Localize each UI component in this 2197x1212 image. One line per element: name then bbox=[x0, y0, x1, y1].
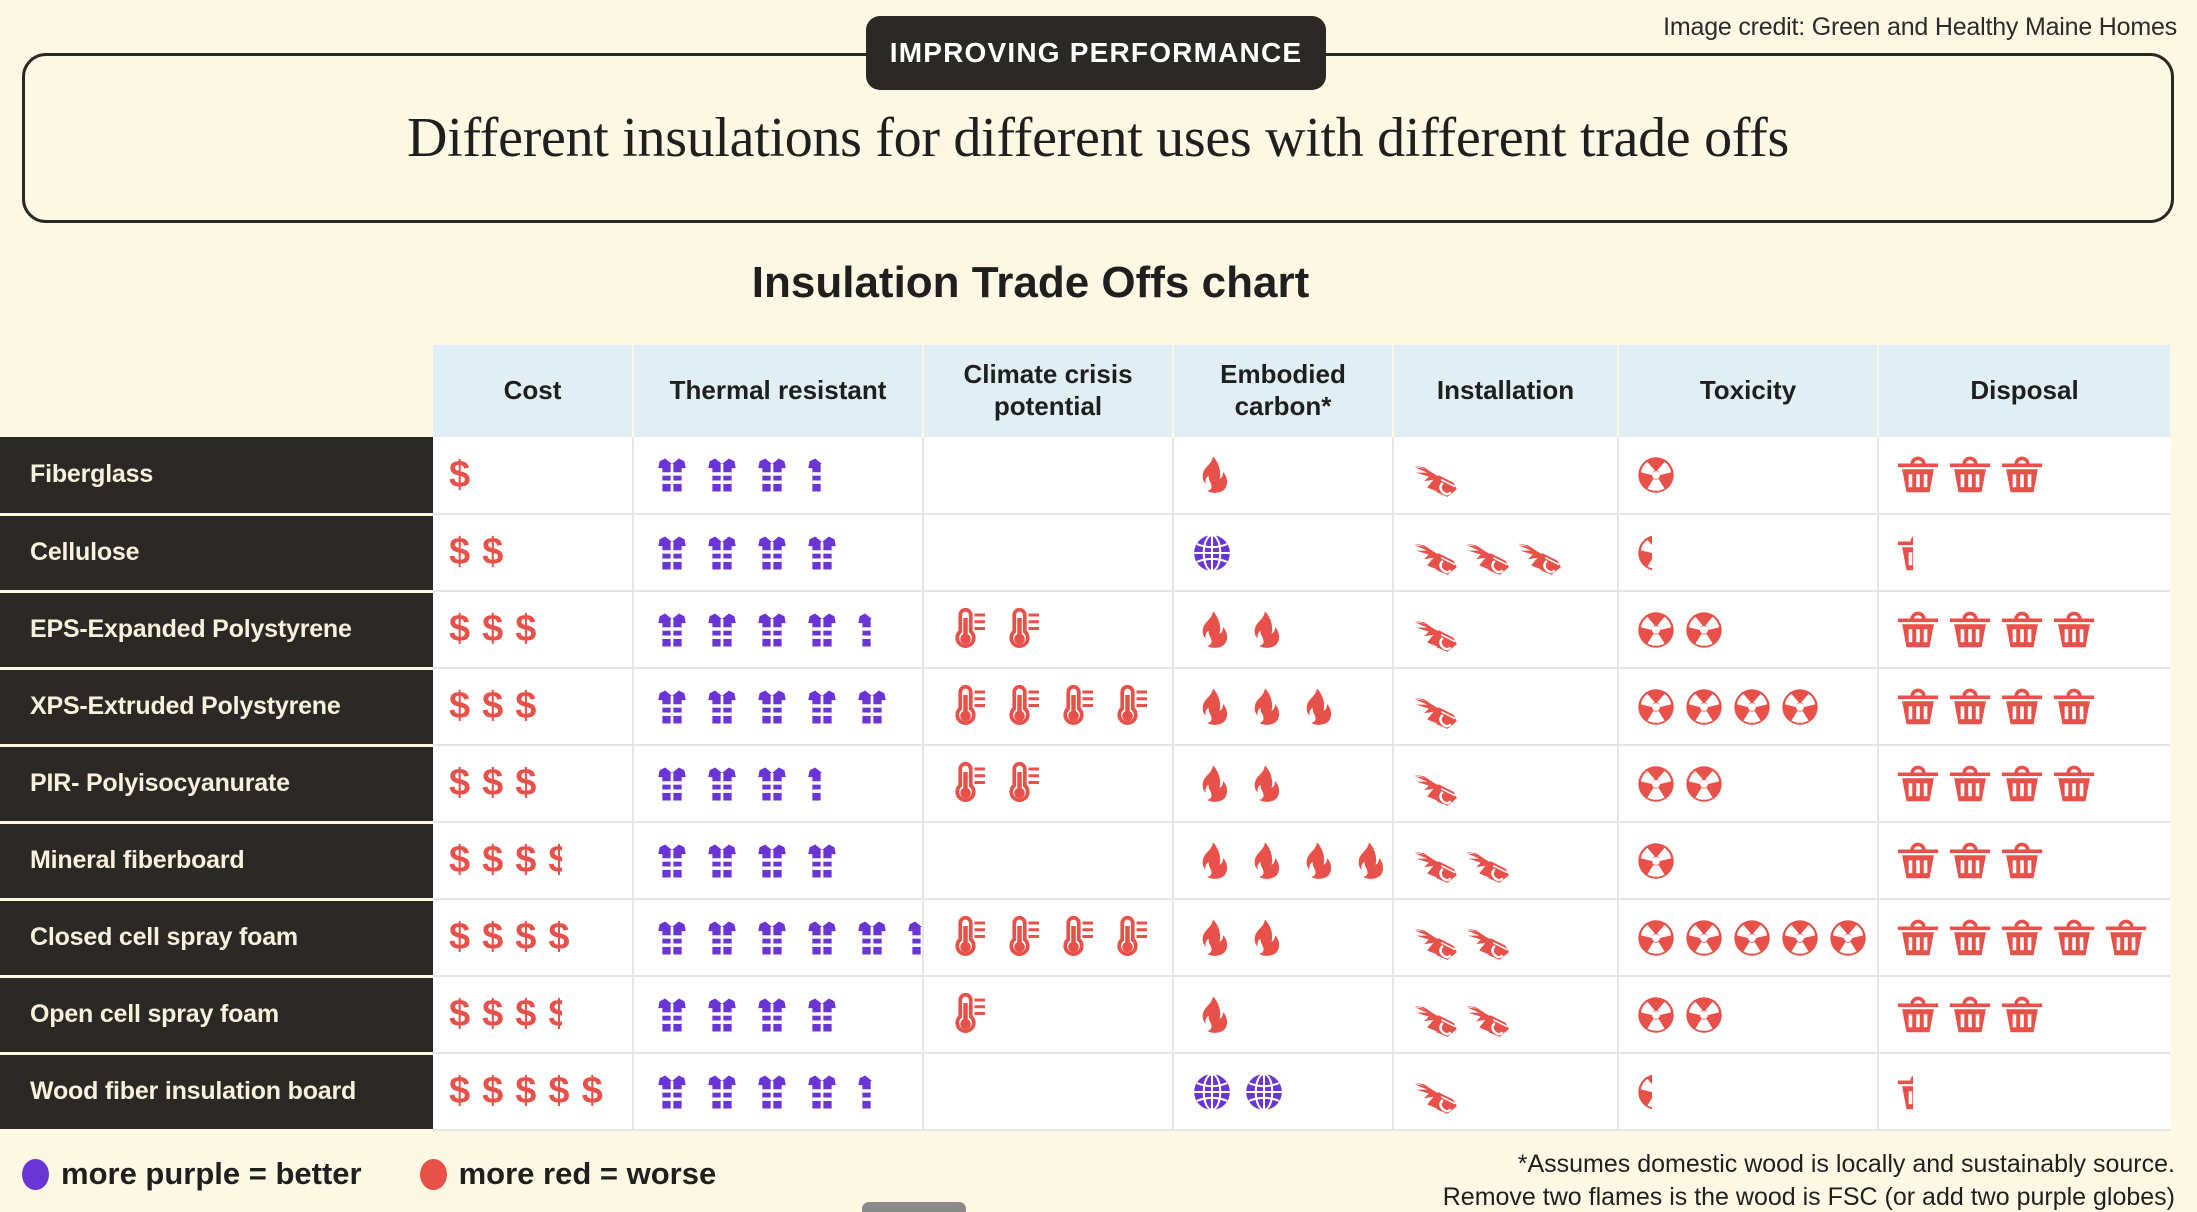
vest-icon bbox=[900, 916, 922, 960]
radiation-icon bbox=[1635, 994, 1677, 1036]
embodied-carbon-value bbox=[1190, 1070, 1392, 1114]
embodied-carbon-cell bbox=[1173, 437, 1393, 514]
table-row: Wood fiber insulation board$$$$$ bbox=[0, 1053, 2170, 1130]
page-title: Different insulations for different uses… bbox=[407, 106, 1789, 170]
thermometer-icon bbox=[994, 606, 1042, 654]
glove-icon bbox=[1410, 682, 1460, 732]
trash-icon bbox=[1999, 761, 2045, 807]
toxicity-cell bbox=[1618, 822, 1878, 899]
cost-cell: $$$ bbox=[433, 668, 633, 745]
vest-icon bbox=[800, 916, 844, 960]
legend: more purple = better more red = worse bbox=[22, 1156, 716, 1192]
glove-icon bbox=[1410, 990, 1460, 1040]
radiation-icon bbox=[1683, 686, 1725, 728]
vest-icon-partial bbox=[800, 453, 822, 497]
vest-icon bbox=[750, 762, 794, 806]
legend-label-red: more red = worse bbox=[459, 1156, 717, 1192]
radiation-icon bbox=[1731, 917, 1773, 959]
thermometer-icon bbox=[940, 914, 988, 962]
installation-cell bbox=[1393, 668, 1618, 745]
disposal-value bbox=[1895, 607, 2170, 653]
cost-cell: $$ bbox=[433, 514, 633, 591]
trash-icon bbox=[1947, 992, 1993, 1038]
dollar-sign-icon: $ bbox=[449, 608, 470, 651]
trash-icon bbox=[1895, 684, 1941, 730]
thermometer-icon bbox=[1048, 914, 1096, 962]
cost-cell: $ bbox=[433, 437, 633, 514]
vest-icon bbox=[800, 1070, 844, 1114]
installation-value bbox=[1410, 1067, 1617, 1117]
section-badge-label: IMPROVING PERFORMANCE bbox=[890, 37, 1303, 69]
dollar-sign-icon: $ bbox=[515, 685, 536, 728]
glove-icon bbox=[1462, 990, 1512, 1040]
radiation-icon bbox=[1635, 454, 1677, 496]
vest-icon bbox=[750, 685, 794, 729]
legend-item-purple: more purple = better bbox=[22, 1156, 362, 1192]
thermal-resistant-value bbox=[650, 531, 922, 575]
chart-title-text: Insulation Trade Offs chart bbox=[752, 258, 1309, 308]
trash-icon bbox=[1895, 607, 1941, 653]
toxicity-cell bbox=[1618, 514, 1878, 591]
thermometer-icon bbox=[1048, 683, 1096, 731]
trash-icon bbox=[1999, 452, 2045, 498]
thermal-resistant-cell bbox=[633, 976, 923, 1053]
table-row: Fiberglass$ bbox=[0, 437, 2170, 514]
trash-icon bbox=[2051, 684, 2097, 730]
trash-icon bbox=[1895, 452, 1941, 498]
radiation-icon bbox=[1635, 686, 1677, 728]
cost-value: $ bbox=[449, 454, 632, 497]
cost-cell: $$$ bbox=[433, 745, 633, 822]
flame-icon bbox=[1190, 992, 1236, 1038]
trash-icon-partial bbox=[1895, 1069, 1913, 1115]
column-header-climate-crisis-potential: Climate crisis potential bbox=[923, 345, 1173, 437]
toxicity-cell bbox=[1618, 591, 1878, 668]
radiation-icon bbox=[1779, 917, 1821, 959]
installation-cell bbox=[1393, 437, 1618, 514]
climate-crisis-potential-cell bbox=[923, 745, 1173, 822]
trash-icon bbox=[1947, 761, 1993, 807]
dollar-sign-icon: $ bbox=[449, 531, 470, 574]
scroll-indicator[interactable] bbox=[862, 1202, 966, 1212]
radiation-icon bbox=[1683, 994, 1725, 1036]
cost-value: $$$ bbox=[449, 685, 632, 728]
glove-icon bbox=[1410, 528, 1460, 578]
thermal-resistant-value bbox=[650, 685, 922, 729]
vest-icon bbox=[650, 608, 694, 652]
disposal-cell bbox=[1878, 899, 2170, 976]
table-row: Open cell spray foam$$$$ bbox=[0, 976, 2170, 1053]
disposal-cell bbox=[1878, 591, 2170, 668]
embodied-carbon-cell bbox=[1173, 591, 1393, 668]
table-row: EPS-Expanded Polystyrene$$$ bbox=[0, 591, 2170, 668]
column-header-installation: Installation bbox=[1393, 345, 1618, 437]
vest-icon-partial bbox=[800, 762, 822, 806]
table-row: XPS-Extruded Polystyrene$$$ bbox=[0, 668, 2170, 745]
table-body: Fiberglass$Cellulose$$EPS-Expanded Polys… bbox=[0, 437, 2170, 1130]
vest-icon bbox=[750, 916, 794, 960]
dollar-sign-icon-partial: $ bbox=[548, 839, 562, 882]
column-header-disposal: Disposal bbox=[1878, 345, 2170, 437]
vest-icon bbox=[700, 1070, 744, 1114]
column-header-toxicity: Toxicity bbox=[1618, 345, 1878, 437]
cost-cell: $$$$ bbox=[433, 899, 633, 976]
vest-icon bbox=[800, 608, 844, 652]
table-row: Cellulose$$ bbox=[0, 514, 2170, 591]
chart-title: Insulation Trade Offs chart bbox=[0, 258, 2197, 308]
flame-icon bbox=[1190, 838, 1236, 884]
vest-icon bbox=[650, 531, 694, 575]
climate-crisis-potential-cell bbox=[923, 668, 1173, 745]
climate-crisis-potential-cell bbox=[923, 899, 1173, 976]
disposal-cell bbox=[1878, 514, 2170, 591]
dollar-sign-icon: $ bbox=[482, 531, 503, 574]
radiation-icon bbox=[1731, 686, 1773, 728]
embodied-carbon-value bbox=[1190, 531, 1392, 575]
vest-icon bbox=[700, 685, 744, 729]
thermal-resistant-value bbox=[650, 993, 922, 1037]
disposal-value bbox=[1895, 452, 2170, 498]
embodied-carbon-value bbox=[1190, 915, 1392, 961]
thermal-resistant-value bbox=[650, 839, 922, 883]
dollar-sign-icon: $ bbox=[482, 1070, 503, 1113]
purple-dot-icon bbox=[22, 1159, 49, 1190]
disposal-cell bbox=[1878, 745, 2170, 822]
row-label-closed-cell-spray-foam: Closed cell spray foam bbox=[0, 899, 433, 976]
dollar-sign-icon: $ bbox=[482, 839, 503, 882]
trash-icon bbox=[1895, 838, 1941, 884]
vest-icon bbox=[800, 993, 844, 1037]
thermometer-icon bbox=[940, 991, 988, 1039]
disposal-value bbox=[1895, 915, 2170, 961]
vest-icon bbox=[650, 993, 694, 1037]
installation-cell bbox=[1393, 745, 1618, 822]
trash-icon-partial bbox=[1895, 530, 1913, 576]
radiation-icon bbox=[1827, 917, 1869, 959]
cost-value: $$$ bbox=[449, 608, 632, 651]
dollar-sign-icon: $ bbox=[515, 916, 536, 959]
installation-value bbox=[1410, 605, 1617, 655]
disposal-cell bbox=[1878, 822, 2170, 899]
thermal-resistant-cell bbox=[633, 745, 923, 822]
glove-icon bbox=[1410, 605, 1460, 655]
toxicity-value bbox=[1635, 686, 1877, 728]
vest-icon bbox=[750, 839, 794, 883]
toxicity-cell bbox=[1618, 745, 1878, 822]
flame-icon bbox=[1190, 452, 1236, 498]
cost-cell: $$$$ bbox=[433, 976, 633, 1053]
radiation-icon bbox=[1683, 917, 1725, 959]
trash-icon bbox=[1999, 684, 2045, 730]
globe-icon bbox=[1190, 531, 1234, 575]
vest-icon bbox=[700, 839, 744, 883]
embodied-carbon-value bbox=[1190, 761, 1392, 807]
installation-cell bbox=[1393, 899, 1618, 976]
embodied-carbon-cell bbox=[1173, 668, 1393, 745]
flame-icon bbox=[1242, 684, 1288, 730]
trash-icon bbox=[1895, 992, 1941, 1038]
vest-icon bbox=[800, 685, 844, 729]
embodied-carbon-cell bbox=[1173, 976, 1393, 1053]
footnote: *Assumes domestic wood is locally and su… bbox=[1443, 1148, 2175, 1212]
cost-value: $$ bbox=[449, 531, 632, 574]
toxicity-value bbox=[1635, 763, 1877, 805]
dollar-sign-icon: $ bbox=[449, 762, 470, 805]
installation-value bbox=[1410, 682, 1617, 732]
dollar-sign-icon: $ bbox=[515, 839, 536, 882]
disposal-cell bbox=[1878, 976, 2170, 1053]
dollar-sign-icon: $ bbox=[482, 762, 503, 805]
trash-icon bbox=[2051, 607, 2097, 653]
vest-icon bbox=[850, 685, 894, 729]
row-label-fiberglass: Fiberglass bbox=[0, 437, 433, 514]
flame-icon bbox=[1242, 915, 1288, 961]
dollar-sign-icon: $ bbox=[449, 993, 470, 1036]
dollar-sign-icon: $ bbox=[515, 1070, 536, 1113]
trash-icon bbox=[1947, 915, 1993, 961]
vest-icon bbox=[700, 916, 744, 960]
thermal-resistant-value bbox=[650, 1070, 922, 1114]
trash-icon bbox=[1895, 915, 1941, 961]
flame-icon bbox=[1190, 684, 1236, 730]
dollar-sign-icon-partial: $ bbox=[548, 993, 562, 1036]
vest-icon bbox=[650, 453, 694, 497]
toxicity-value bbox=[1635, 609, 1877, 651]
trash-icon bbox=[1999, 915, 2045, 961]
dollar-sign-icon: $ bbox=[482, 685, 503, 728]
cost-value: $$$ bbox=[449, 762, 632, 805]
thermometer-icon bbox=[940, 683, 988, 731]
cost-value: $$$$ bbox=[449, 839, 632, 882]
flame-icon bbox=[1242, 607, 1288, 653]
row-label-pir-polyisocyanurate: PIR- Polyisocyanurate bbox=[0, 745, 433, 822]
installation-value bbox=[1410, 528, 1617, 578]
embodied-carbon-cell bbox=[1173, 822, 1393, 899]
flame-icon bbox=[1190, 761, 1236, 807]
table-header-row: Cost Thermal resistant Climate crisis po… bbox=[0, 345, 2170, 437]
glove-icon bbox=[1462, 528, 1512, 578]
climate-crisis-value bbox=[940, 683, 1172, 731]
row-label-open-cell-spray-foam: Open cell spray foam bbox=[0, 976, 433, 1053]
embodied-carbon-cell bbox=[1173, 514, 1393, 591]
thermometer-icon bbox=[994, 760, 1042, 808]
radiation-icon-partial bbox=[1635, 532, 1652, 574]
disposal-value bbox=[1895, 530, 2170, 576]
radiation-icon bbox=[1635, 763, 1677, 805]
cost-value: $$$$ bbox=[449, 993, 632, 1036]
toxicity-value bbox=[1635, 454, 1877, 496]
radiation-icon bbox=[1779, 686, 1821, 728]
cost-cell: $$$ bbox=[433, 591, 633, 668]
installation-cell bbox=[1393, 514, 1618, 591]
cost-cell: $$$$$ bbox=[433, 1053, 633, 1130]
disposal-value bbox=[1895, 1069, 2170, 1115]
thermal-resistant-cell bbox=[633, 514, 923, 591]
disposal-value bbox=[1895, 992, 2170, 1038]
dollar-sign-icon: $ bbox=[515, 762, 536, 805]
embodied-carbon-value bbox=[1190, 992, 1392, 1038]
installation-value bbox=[1410, 836, 1617, 886]
glove-icon bbox=[1410, 450, 1460, 500]
legend-item-red: more red = worse bbox=[420, 1156, 717, 1192]
vest-icon bbox=[650, 1070, 694, 1114]
glove-icon bbox=[1462, 836, 1512, 886]
image-credit: Image credit: Green and Healthy Maine Ho… bbox=[1663, 13, 2177, 42]
trash-icon bbox=[1999, 607, 2045, 653]
trash-icon bbox=[1947, 838, 1993, 884]
embodied-carbon-cell bbox=[1173, 1053, 1393, 1130]
cost-cell: $$$$ bbox=[433, 822, 633, 899]
dollar-sign-icon: $ bbox=[449, 839, 470, 882]
installation-cell bbox=[1393, 591, 1618, 668]
dollar-sign-icon: $ bbox=[449, 1070, 470, 1113]
vest-icon bbox=[650, 839, 694, 883]
row-label-eps-expanded-polystyrene: EPS-Expanded Polystyrene bbox=[0, 591, 433, 668]
cost-value: $$$$ bbox=[449, 916, 632, 959]
vest-icon bbox=[750, 453, 794, 497]
dollar-sign-icon: $ bbox=[482, 993, 503, 1036]
globe-icon bbox=[1190, 1070, 1234, 1114]
footnote-line-2: Remove two flames is the wood is FSC (or… bbox=[1443, 1181, 2175, 1212]
flame-icon bbox=[1346, 838, 1392, 884]
vest-icon bbox=[700, 608, 744, 652]
trash-icon bbox=[1895, 761, 1941, 807]
toxicity-value bbox=[1635, 917, 1877, 959]
disposal-cell bbox=[1878, 668, 2170, 745]
disposal-cell bbox=[1878, 437, 2170, 514]
flame-icon bbox=[1190, 915, 1236, 961]
toxicity-cell bbox=[1618, 1053, 1878, 1130]
climate-crisis-potential-cell bbox=[923, 514, 1173, 591]
glove-icon bbox=[1410, 759, 1460, 809]
globe-icon bbox=[1242, 1070, 1286, 1114]
radiation-icon bbox=[1635, 609, 1677, 651]
climate-crisis-potential-cell bbox=[923, 591, 1173, 668]
climate-crisis-potential-cell bbox=[923, 1053, 1173, 1130]
vest-icon bbox=[750, 608, 794, 652]
installation-value bbox=[1410, 913, 1617, 963]
thermal-resistant-value bbox=[650, 608, 922, 652]
vest-icon-partial bbox=[850, 608, 872, 652]
embodied-carbon-value bbox=[1190, 684, 1392, 730]
thermal-resistant-cell bbox=[633, 1053, 923, 1130]
radiation-icon bbox=[1683, 763, 1725, 805]
thermal-resistant-cell bbox=[633, 591, 923, 668]
vest-icon bbox=[800, 531, 844, 575]
vest-icon bbox=[850, 916, 894, 960]
trash-icon bbox=[1947, 684, 1993, 730]
thermal-resistant-cell bbox=[633, 668, 923, 745]
row-label-xps-extruded-polystyrene: XPS-Extruded Polystyrene bbox=[0, 668, 433, 745]
column-header-thermal-resistant: Thermal resistant bbox=[633, 345, 923, 437]
installation-cell bbox=[1393, 976, 1618, 1053]
dollar-sign-icon: $ bbox=[482, 916, 503, 959]
thermometer-icon bbox=[994, 683, 1042, 731]
flame-icon bbox=[1294, 838, 1340, 884]
dollar-sign-icon: $ bbox=[449, 685, 470, 728]
vest-icon bbox=[750, 993, 794, 1037]
column-header-cost: Cost bbox=[433, 345, 633, 437]
thermal-resistant-cell bbox=[633, 822, 923, 899]
dollar-sign-icon: $ bbox=[548, 916, 569, 959]
thermal-resistant-cell bbox=[633, 899, 923, 976]
installation-value bbox=[1410, 990, 1617, 1040]
legend-label-purple: more purple = better bbox=[61, 1156, 362, 1192]
vest-icon bbox=[650, 685, 694, 729]
toxicity-value bbox=[1635, 532, 1877, 574]
glove-icon bbox=[1410, 913, 1460, 963]
climate-crisis-value bbox=[940, 991, 1172, 1039]
trash-icon bbox=[1947, 452, 1993, 498]
vest-icon bbox=[700, 762, 744, 806]
embodied-carbon-value bbox=[1190, 452, 1392, 498]
radiation-icon-partial bbox=[1635, 1071, 1652, 1113]
infographic-page: Image credit: Green and Healthy Maine Ho… bbox=[0, 0, 2197, 1212]
vest-icon bbox=[800, 839, 844, 883]
trash-icon bbox=[2051, 915, 2097, 961]
radiation-icon bbox=[1635, 917, 1677, 959]
dollar-sign-icon: $ bbox=[548, 1070, 569, 1113]
radiation-icon bbox=[1683, 609, 1725, 651]
flame-icon bbox=[1190, 607, 1236, 653]
trash-icon bbox=[1947, 607, 1993, 653]
trade-offs-table-wrap: Cost Thermal resistant Climate crisis po… bbox=[0, 345, 2197, 1135]
cost-value: $$$$$ bbox=[449, 1070, 632, 1113]
toxicity-value bbox=[1635, 994, 1877, 1036]
climate-crisis-potential-cell bbox=[923, 822, 1173, 899]
vest-icon bbox=[750, 531, 794, 575]
toxicity-cell bbox=[1618, 899, 1878, 976]
toxicity-cell bbox=[1618, 976, 1878, 1053]
thermal-resistant-cell bbox=[633, 437, 923, 514]
thermal-resistant-value bbox=[650, 916, 922, 960]
dollar-sign-icon: $ bbox=[515, 608, 536, 651]
disposal-cell bbox=[1878, 1053, 2170, 1130]
thermometer-icon bbox=[1102, 683, 1150, 731]
row-label-mineral-fiberboard: Mineral fiberboard bbox=[0, 822, 433, 899]
flame-icon bbox=[1242, 838, 1288, 884]
trash-icon bbox=[2051, 761, 2097, 807]
dollar-sign-icon: $ bbox=[582, 1070, 603, 1113]
climate-crisis-potential-cell bbox=[923, 976, 1173, 1053]
embodied-carbon-cell bbox=[1173, 899, 1393, 976]
thermometer-icon bbox=[940, 606, 988, 654]
installation-cell bbox=[1393, 822, 1618, 899]
glove-icon bbox=[1410, 1067, 1460, 1117]
installation-value bbox=[1410, 759, 1617, 809]
radiation-icon bbox=[1635, 840, 1677, 882]
disposal-value bbox=[1895, 838, 2170, 884]
embodied-carbon-value bbox=[1190, 607, 1392, 653]
flame-icon bbox=[1242, 761, 1288, 807]
climate-crisis-value bbox=[940, 914, 1172, 962]
glove-icon bbox=[1462, 913, 1512, 963]
glove-icon bbox=[1514, 528, 1564, 578]
vest-icon bbox=[650, 762, 694, 806]
disposal-value bbox=[1895, 684, 2170, 730]
vest-icon bbox=[650, 916, 694, 960]
dollar-sign-icon: $ bbox=[449, 454, 470, 497]
table-header: Cost Thermal resistant Climate crisis po… bbox=[0, 345, 2170, 437]
trade-offs-table: Cost Thermal resistant Climate crisis po… bbox=[0, 345, 2170, 1132]
flame-icon bbox=[1294, 684, 1340, 730]
trash-icon bbox=[1999, 992, 2045, 1038]
dollar-sign-icon: $ bbox=[515, 993, 536, 1036]
thermal-resistant-value bbox=[650, 762, 922, 806]
thermometer-icon bbox=[1102, 914, 1150, 962]
footnote-line-1: *Assumes domestic wood is locally and su… bbox=[1443, 1148, 2175, 1181]
toxicity-value bbox=[1635, 840, 1877, 882]
